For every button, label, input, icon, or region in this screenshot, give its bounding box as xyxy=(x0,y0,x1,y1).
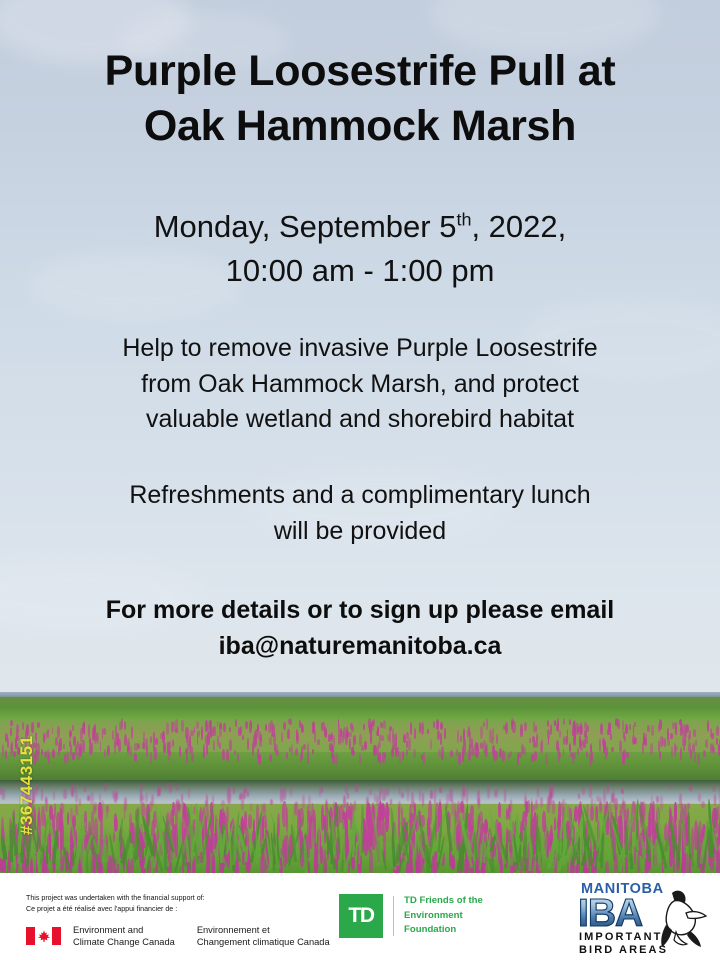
eccc-fr-line-1: Environnement et xyxy=(197,924,330,937)
funding-note-fr: Ce projet a été réalisé avec l'appui fin… xyxy=(26,904,330,915)
title-line-2: Oak Hammock Marsh xyxy=(50,99,670,154)
td-sponsor-block: TD TD Friends of the Environment Foundat… xyxy=(339,894,483,938)
title-line-1: Purple Loosestrife Pull at xyxy=(50,44,670,99)
funding-note-en: This project was undertaken with the fin… xyxy=(26,893,330,904)
iba-acronym: IBA xyxy=(578,894,642,933)
marsh-photograph xyxy=(0,692,720,873)
contact-block: For more details or to sign up please em… xyxy=(45,592,675,664)
event-datetime: Monday, September 5th, 2022, 10:00 am - … xyxy=(60,205,660,293)
iba-subtitle-line-1: IMPORTANT xyxy=(579,931,668,944)
maple-leaf-icon xyxy=(37,930,50,943)
eccc-wordmark: Environment and Climate Change Canada En… xyxy=(73,924,330,949)
td-name-line-2: Environment xyxy=(404,909,483,923)
eccc-en-line-2: Climate Change Canada xyxy=(73,936,175,949)
description-line-1: Help to remove invasive Purple Loosestri… xyxy=(55,331,665,367)
canada-flag-icon xyxy=(26,927,61,945)
td-logo-icon: TD xyxy=(339,894,383,938)
page-title: Purple Loosestrife Pull at Oak Hammock M… xyxy=(50,44,670,154)
td-divider xyxy=(393,896,394,936)
eccc-english: Environment and Climate Change Canada xyxy=(73,924,175,949)
photo-vignette xyxy=(0,692,720,873)
contact-email-address[interactable]: iba@naturemanitoba.ca xyxy=(45,628,675,664)
description-paragraph: Help to remove invasive Purple Loosestri… xyxy=(55,331,665,438)
refreshments-line-2: will be provided xyxy=(55,514,665,550)
stock-photo-watermark: #367443151 xyxy=(17,725,37,835)
iba-subtitle: IMPORTANT BIRD AREAS xyxy=(579,931,668,958)
eccc-fr-line-2: Changement climatique Canada xyxy=(197,936,330,949)
refreshments-paragraph: Refreshments and a complimentary lunch w… xyxy=(55,478,665,549)
eccc-en-line-1: Environment and xyxy=(73,924,175,937)
td-foundation-name: TD Friends of the Environment Foundation xyxy=(404,894,483,938)
td-name-line-3: Foundation xyxy=(404,923,483,937)
description-line-2: from Oak Hammock Marsh, and protect xyxy=(55,367,665,403)
sponsor-footer: This project was undertaken with the fin… xyxy=(0,873,720,960)
flag-bar-right xyxy=(52,927,61,945)
eccc-french: Environnement et Changement climatique C… xyxy=(197,924,330,949)
poster: Purple Loosestrife Pull at Oak Hammock M… xyxy=(0,0,720,960)
description-line-3: valuable wetland and shorebird habitat xyxy=(55,402,665,438)
flag-bar-left xyxy=(26,927,35,945)
event-date-prefix: Monday, September 5 xyxy=(154,209,457,244)
event-date: Monday, September 5th, 2022, xyxy=(60,205,660,249)
event-time: 10:00 am - 1:00 pm xyxy=(60,249,660,293)
iba-subtitle-line-2: BIRD AREAS xyxy=(579,944,668,957)
contact-instruction: For more details or to sign up please em… xyxy=(45,592,675,628)
iba-sponsor-block: MANITOBA IBA IMPORTANT BIRD AREAS xyxy=(576,879,704,957)
funding-note: This project was undertaken with the fin… xyxy=(26,893,330,915)
event-date-suffix: , 2022, xyxy=(471,209,566,244)
td-name-line-1: TD Friends of the xyxy=(404,894,483,908)
canada-sponsor-block: This project was undertaken with the fin… xyxy=(26,893,330,949)
event-date-ordinal: th xyxy=(456,210,471,230)
canada-wordmark-row: Environment and Climate Change Canada En… xyxy=(26,924,330,949)
td-logo-letters: TD xyxy=(339,894,383,938)
refreshments-line-1: Refreshments and a complimentary lunch xyxy=(55,478,665,514)
